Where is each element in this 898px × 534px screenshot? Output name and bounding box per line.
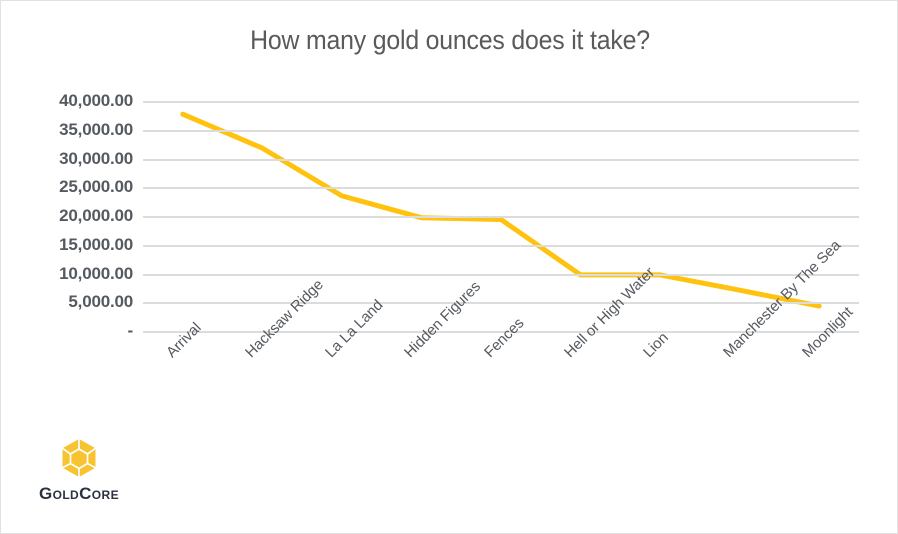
goldcore-hexagon-cube-icon bbox=[61, 438, 97, 478]
y-axis-tick-label: 25,000.00 bbox=[1, 177, 133, 197]
x-axis-tick-label: Lion bbox=[640, 329, 672, 361]
gridline bbox=[143, 159, 859, 161]
goldcore-logo: GoldCore bbox=[23, 438, 135, 504]
gridline bbox=[143, 187, 859, 189]
y-axis-tick-label: 5,000.00 bbox=[1, 292, 133, 312]
page-title: How many gold ounces does it take? bbox=[37, 25, 863, 56]
chart-page: How many gold ounces does it take? 40,00… bbox=[0, 0, 898, 534]
y-axis-tick-label: 40,000.00 bbox=[1, 91, 133, 111]
plot-area bbox=[143, 101, 859, 331]
gridline bbox=[143, 274, 859, 276]
y-axis-tick-label: 10,000.00 bbox=[1, 264, 133, 284]
gridline bbox=[143, 331, 859, 333]
y-axis-tick-label: 20,000.00 bbox=[1, 206, 133, 226]
goldcore-wordmark: GoldCore bbox=[23, 484, 135, 504]
y-axis-tick-label: 30,000.00 bbox=[1, 149, 133, 169]
y-axis-tick-label: 35,000.00 bbox=[1, 120, 133, 140]
gridline bbox=[143, 245, 859, 247]
y-axis-tick-label: - bbox=[1, 321, 133, 341]
y-axis-tick-label: 15,000.00 bbox=[1, 235, 133, 255]
gridline bbox=[143, 216, 859, 218]
line-series-path bbox=[183, 114, 819, 306]
gridline bbox=[143, 130, 859, 132]
gridline bbox=[143, 302, 859, 304]
gridline bbox=[143, 101, 859, 103]
